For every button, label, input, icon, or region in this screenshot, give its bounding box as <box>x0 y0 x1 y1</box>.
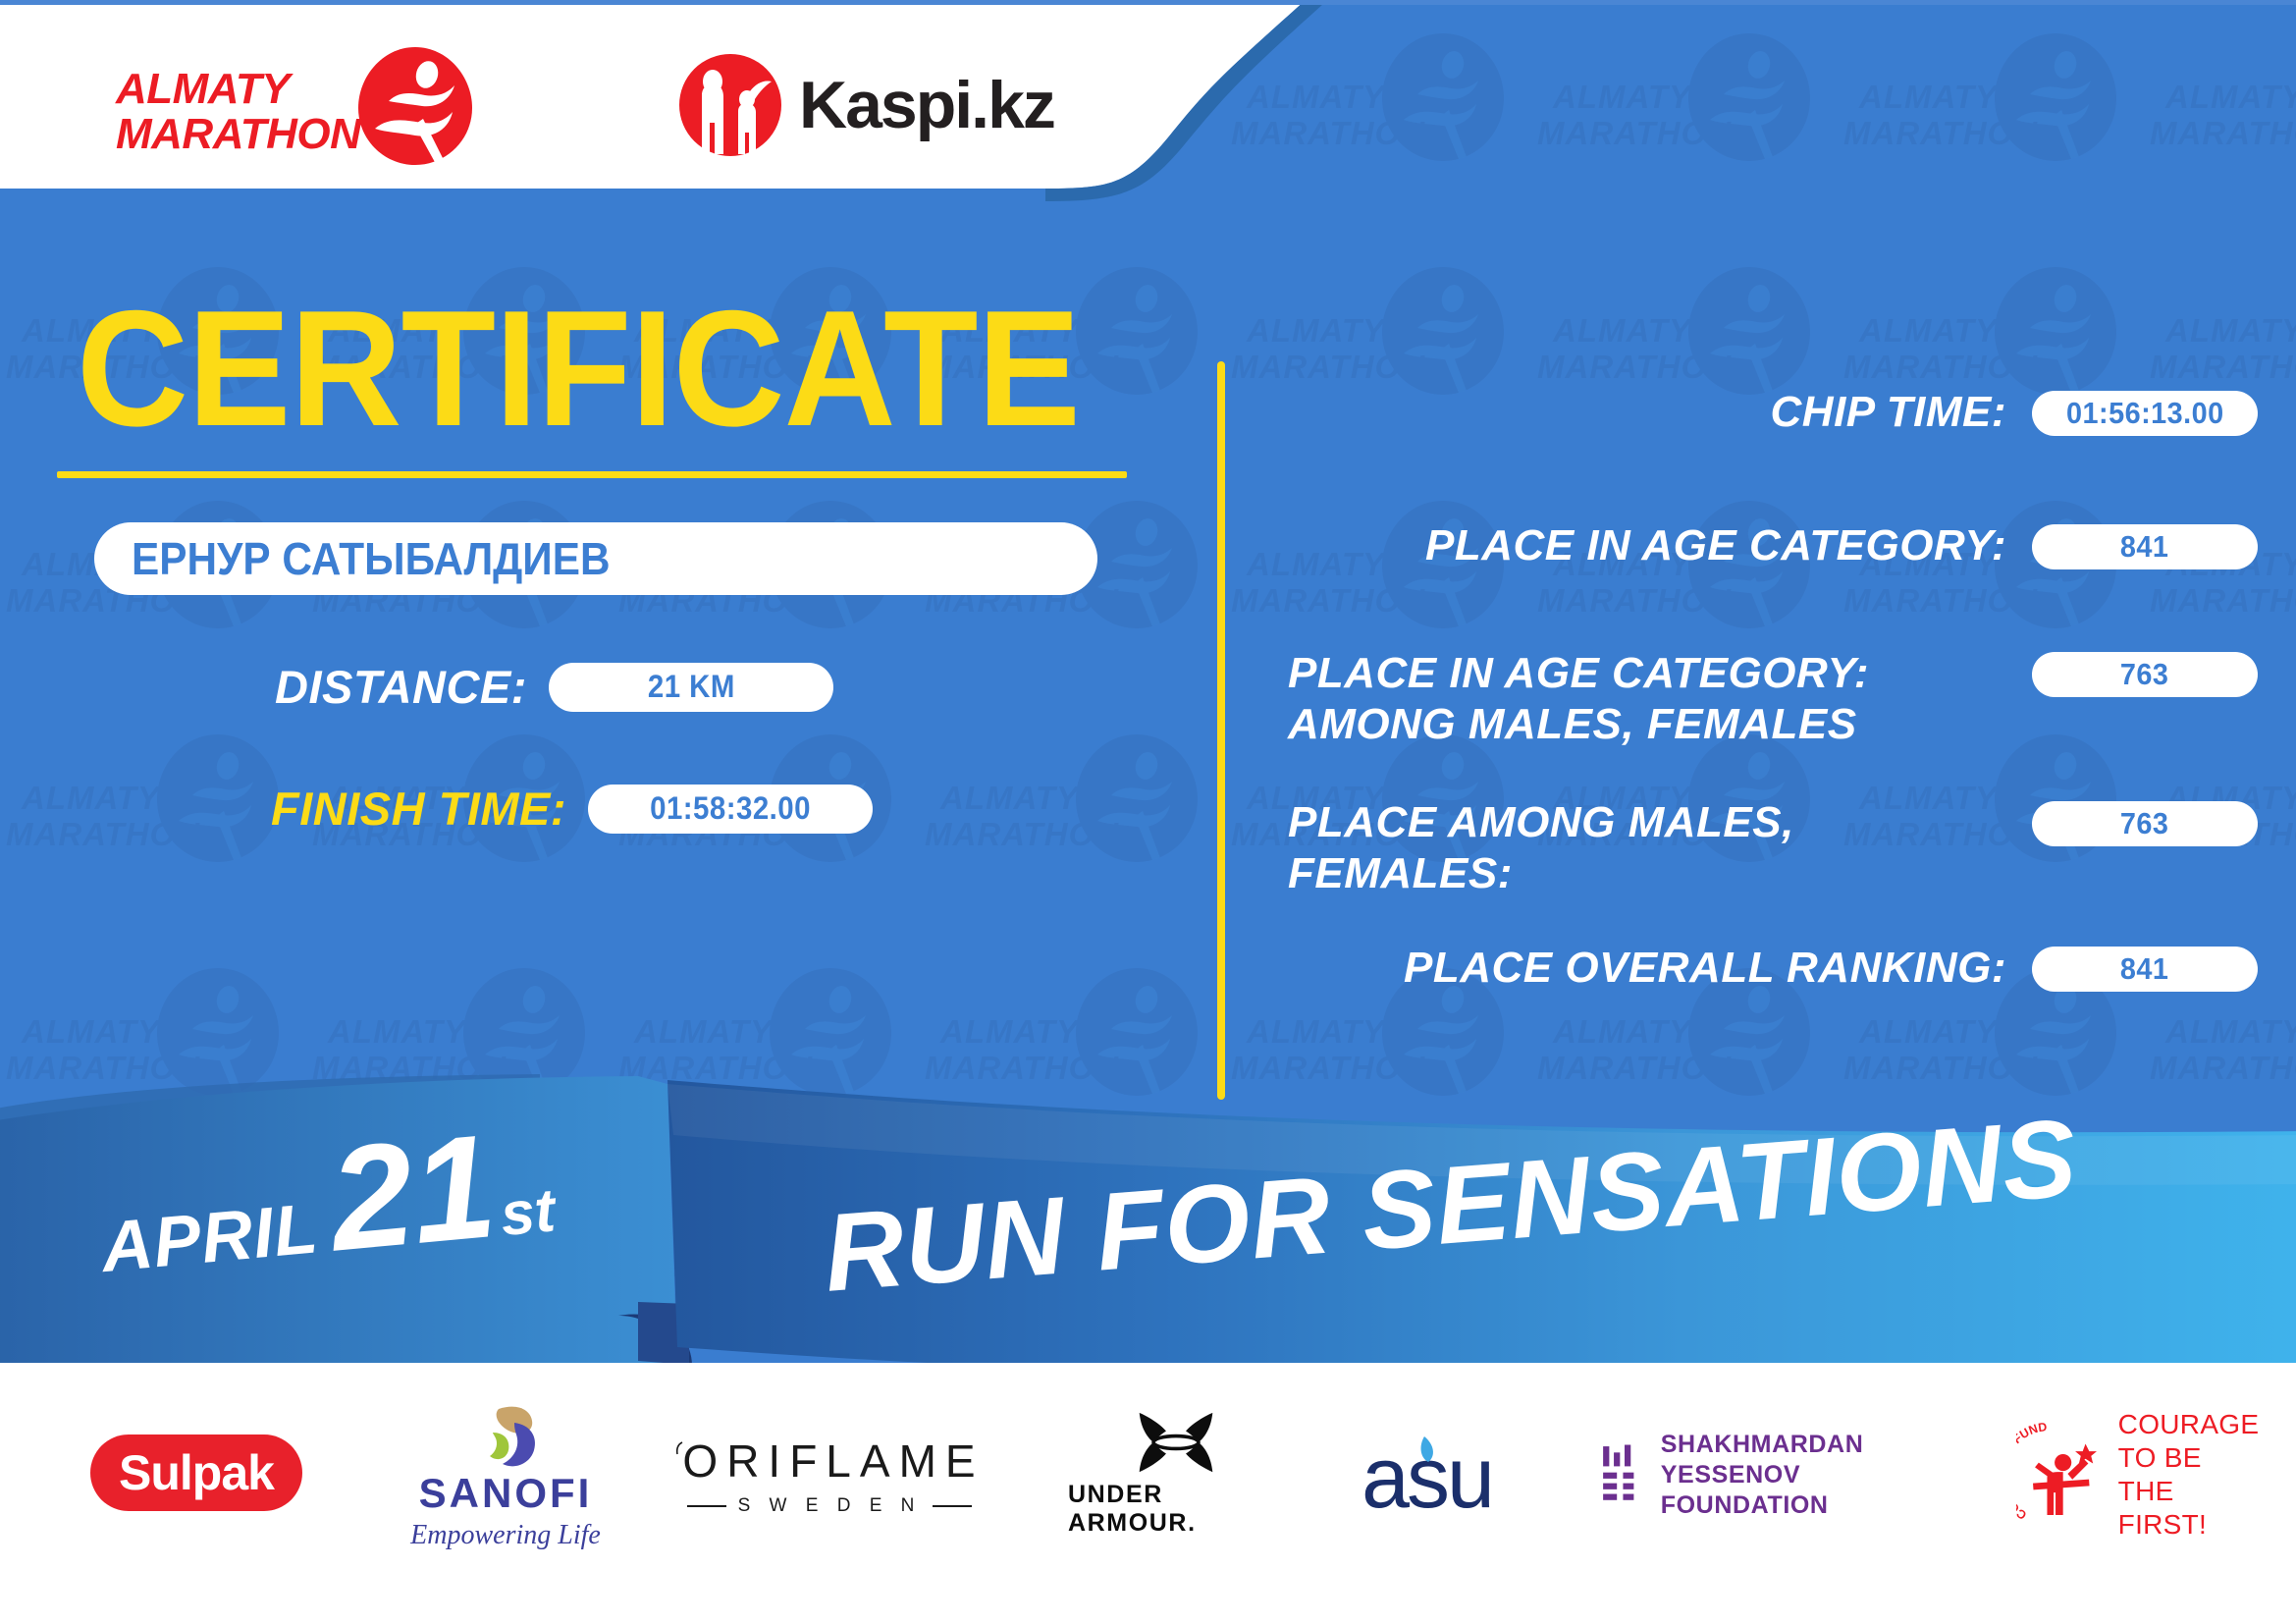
stat-value: 01:56:13.00 <box>2066 396 2224 431</box>
stat-value: 841 <box>2120 951 2169 987</box>
stat-value-pill: 841 <box>2032 947 2258 992</box>
oriflame-sub: S W E D E N <box>726 1495 934 1517</box>
sponsor-asu: asu <box>1355 1420 1541 1528</box>
distance-row: DISTANCE: 21 KM <box>275 660 833 714</box>
courage-runner-icon: CORPORATE FUND <box>2016 1421 2107 1529</box>
header-logos: ALMATY MARATHON Kaspi.kz <box>0 0 1276 189</box>
stat-value: 763 <box>2120 657 2169 692</box>
stat-row: PLACE AMONG MALES, FEMALES: 763 <box>1276 797 2258 899</box>
stat-value-pill: 763 <box>2032 652 2258 697</box>
stat-value: 841 <box>2120 529 2169 565</box>
sponsor-sulpak: Sulpak <box>90 1434 302 1512</box>
courage-line1: COURAGE <box>2118 1408 2264 1441</box>
sponsor-yessenov: SHAKHMARDAN YESSENOV FOUNDATION <box>1600 1426 1934 1524</box>
column-divider <box>1217 361 1225 1100</box>
stat-value-pill: 763 <box>2032 801 2258 846</box>
sanofi-wordmark: SANOFI <box>419 1470 593 1517</box>
stat-row: PLACE IN AGE CATEGORY: AMONG MALES, FEMA… <box>1276 648 2258 750</box>
asu-droplet-icon: asu <box>1360 1423 1536 1525</box>
stat-label: PLACE IN AGE CATEGORY: <box>1276 520 2032 571</box>
finish-time-value: 01:58:32.00 <box>650 790 811 827</box>
sponsor-sanofi: SANOFI Empowering Life <box>393 1404 618 1551</box>
stat-value-pill: 841 <box>2032 524 2258 569</box>
finish-time-label: FINISH TIME: <box>271 782 566 836</box>
distance-label: DISTANCE: <box>275 660 527 714</box>
kaspi-logo: Kaspi.kz <box>677 51 1099 159</box>
sulpak-pill-logo: Sulpak <box>90 1435 302 1511</box>
under-armour-wordmark: UNDER ARMOUR. <box>1068 1481 1284 1538</box>
sponsor-courage-fund: CORPORATE FUND COURAGE TO <box>2022 1416 2258 1534</box>
yessenov-line1: SHAKHMARDAN YESSENOV <box>1661 1430 1934 1490</box>
page-title: CERTIFICATE <box>77 295 1080 442</box>
kaspi-wordmark: Kaspi.kz <box>799 72 1054 138</box>
sulpak-wordmark: Sulpak <box>119 1444 274 1501</box>
distance-value: 21 KM <box>647 669 734 705</box>
sponsor-oriflame: ORIFLAME S W E D E N <box>687 1432 972 1520</box>
event-date-day: 21 <box>324 1111 501 1273</box>
stat-label: CHIP TIME: <box>1276 387 2032 438</box>
stat-row: PLACE IN AGE CATEGORY: 841 <box>1276 520 2258 571</box>
sanofi-tagline: Empowering Life <box>410 1520 601 1551</box>
courage-line3: THE FIRST! <box>2118 1475 2264 1542</box>
title-underline <box>57 471 1127 478</box>
oriflame-sub-wrap: S W E D E N <box>687 1495 972 1517</box>
courage-line2: TO BE <box>2118 1441 2264 1475</box>
stat-label: PLACE AMONG MALES, FEMALES: <box>1276 797 2032 899</box>
sponsor-footer: Sulpak SANOFI Empowering Life <box>0 1363 2296 1624</box>
stat-row: PLACE OVERALL RANKING: 841 <box>1276 943 2258 994</box>
certificate-canvas: ALMATY MARATHON ALMATY <box>0 0 2296 1624</box>
athlete-name-value: ЕРНУР САТЫБАЛДИЕВ <box>132 532 611 585</box>
oriflame-rule-left <box>687 1505 726 1507</box>
stat-label: PLACE OVERALL RANKING: <box>1276 943 2032 994</box>
athlete-name-field: ЕРНУР САТЫБАЛДИЕВ <box>94 522 1097 595</box>
yessenov-bars-icon <box>1600 1436 1643 1513</box>
finish-time-value-pill: 01:58:32.00 <box>588 785 873 834</box>
stat-value: 763 <box>2120 806 2169 841</box>
almaty-marathon-wordmark: ALMATY MARATHON <box>116 67 381 157</box>
almaty-marathon-logo: ALMATY MARATHON <box>116 45 440 163</box>
distance-value-pill: 21 KM <box>549 663 833 712</box>
event-date-ordinal: st <box>498 1175 558 1250</box>
finish-time-row: FINISH TIME: 01:58:32.00 <box>275 782 873 836</box>
stat-label: PLACE IN AGE CATEGORY: AMONG MALES, FEMA… <box>1276 648 2032 750</box>
marathon-logo-line2: MARATHON <box>116 112 381 157</box>
oriflame-rule-right <box>933 1505 972 1507</box>
under-armour-h-icon <box>1115 1410 1237 1475</box>
oriflame-wordmark: ORIFLAME <box>682 1435 984 1488</box>
sponsor-under-armour: UNDER ARMOUR. <box>1068 1410 1284 1538</box>
kaspi-two-figures-icon <box>677 52 783 158</box>
event-date-month: APRIL <box>98 1188 322 1288</box>
yessenov-line2: FOUNDATION <box>1661 1490 1934 1521</box>
marathon-logo-line1: ALMATY <box>116 67 381 112</box>
stat-value-pill: 01:56:13.00 <box>2032 391 2258 436</box>
sponsor-list: Sulpak SANOFI Empowering Life <box>0 1396 2296 1602</box>
stat-row: CHIP TIME: 01:56:13.00 <box>1276 387 2258 438</box>
sanofi-flame-icon <box>463 1405 548 1470</box>
